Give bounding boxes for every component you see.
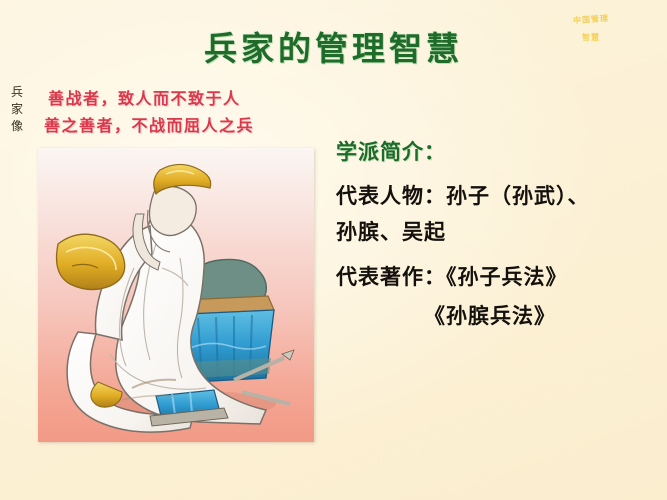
intro-line-representative-works-cont: 《孙膑兵法》 xyxy=(424,300,556,330)
portrait-vertical-caption: 兵 家 像 xyxy=(8,84,26,135)
quote-line-2: 善之善者，不战而屈人之兵 xyxy=(44,112,254,136)
slide-canvas: 中国管理 智慧 兵家的管理智慧 兵 家 像 善战者，致人而不致于人 善之善者，不… xyxy=(0,0,667,500)
intro-line-representative-figures-cont: 孙膑、吴起 xyxy=(336,216,446,246)
portrait-illustration-icon xyxy=(38,148,314,442)
vertical-caption-char-1: 兵 xyxy=(8,84,26,101)
quote-line-1: 善战者，致人而不致于人 xyxy=(48,85,241,109)
military-strategist-portrait xyxy=(38,148,314,442)
vertical-caption-char-3: 像 xyxy=(8,118,26,135)
intro-line-representative-works: 代表著作：《孙子兵法》 xyxy=(336,261,568,291)
intro-heading: 学派简介： xyxy=(336,136,446,166)
intro-line-representative-figures: 代表人物：孙子（孙武）、 xyxy=(336,180,590,210)
page-title: 兵家的管理智慧 xyxy=(0,22,667,70)
golden-seal xyxy=(57,234,125,289)
vertical-caption-char-2: 家 xyxy=(8,101,26,118)
